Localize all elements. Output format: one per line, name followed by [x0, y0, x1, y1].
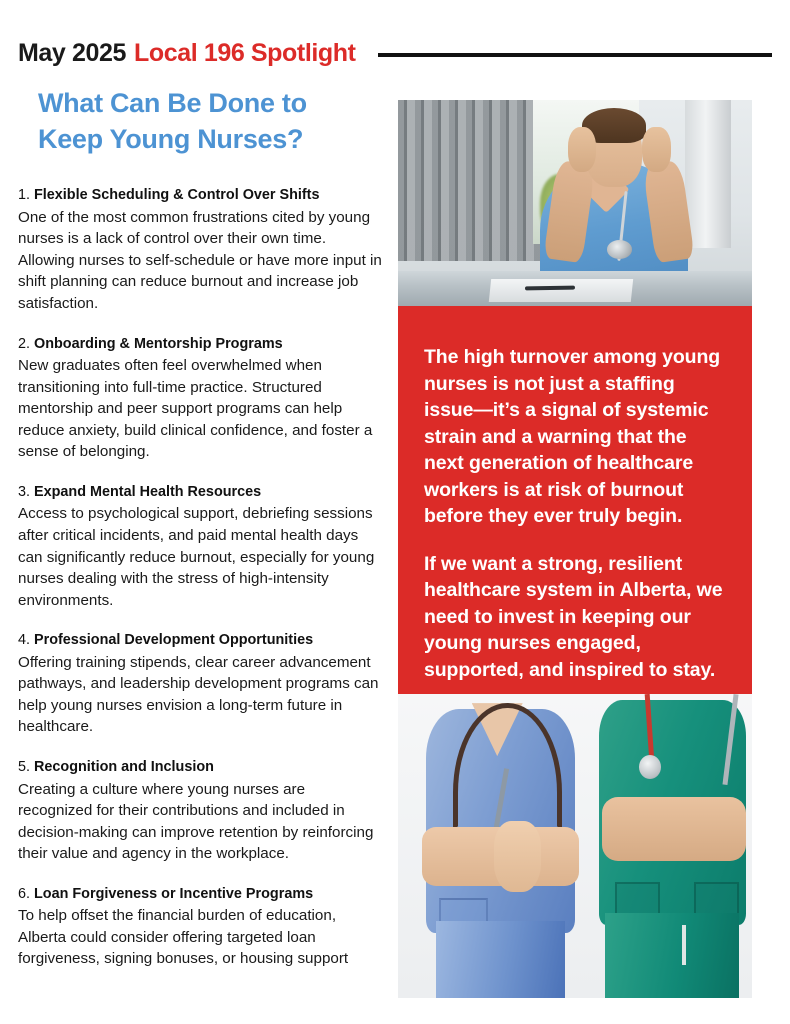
article-section: 6. Loan Forgiveness or Incentive Program…: [18, 884, 382, 970]
pull-quote-paragraph-1: The high turnover among young nurses is …: [424, 344, 726, 530]
section-number: 1.: [18, 187, 30, 203]
section-number: 3.: [18, 484, 30, 500]
article-section: 4. Professional Development Opportunitie…: [18, 630, 382, 738]
article-section: 2. Onboarding & Mentorship Programs New …: [18, 334, 382, 463]
nurse-green-scrubs: [593, 694, 752, 998]
masthead-date: May 2025: [18, 39, 126, 68]
nurse-right-hand: [642, 127, 670, 172]
drawstring: [682, 925, 686, 965]
section-number: 2.: [18, 336, 30, 352]
nurse-blue-pants: [436, 921, 565, 998]
photo-exhausted-nurse: [398, 100, 752, 306]
section-heading: 3. Expand Mental Health Resources: [18, 482, 382, 502]
masthead-title: Local 196 Spotlight: [134, 39, 356, 68]
section-number: 4.: [18, 632, 30, 648]
section-title: Flexible Scheduling & Control Over Shift…: [34, 187, 319, 203]
clipboard: [489, 279, 633, 302]
nurse-green-pants: [605, 913, 739, 998]
nurse-left-hand: [568, 127, 596, 172]
photo-top-scene: [398, 100, 752, 306]
section-body: To help offset the financial burden of e…: [18, 905, 382, 970]
article-column: What Can Be Done to Keep Young Nurses? 1…: [18, 86, 382, 989]
stethoscope-bell-icon: [607, 240, 632, 259]
section-body: New graduates often feel overwhelmed whe…: [18, 355, 382, 463]
section-body: Offering training stipends, clear career…: [18, 652, 382, 738]
section-heading: 2. Onboarding & Mentorship Programs: [18, 334, 382, 354]
section-heading: 1. Flexible Scheduling & Control Over Sh…: [18, 185, 382, 205]
nurse-blue-hand: [494, 821, 542, 892]
pull-quote-paragraph-2: If we want a strong, resilient healthcar…: [424, 551, 726, 684]
section-body: Creating a culture where young nurses ar…: [18, 779, 382, 865]
section-title: Recognition and Inclusion: [34, 759, 214, 775]
newsletter-page: May 2025 Local 196 Spotlight What Can Be…: [0, 0, 790, 1024]
article-section: 3. Expand Mental Health Resources Access…: [18, 482, 382, 611]
section-title: Professional Development Opportunities: [34, 632, 313, 648]
article-section: 5. Recognition and Inclusion Creating a …: [18, 757, 382, 865]
section-heading: 4. Professional Development Opportunitie…: [18, 630, 382, 650]
article-section: 1. Flexible Scheduling & Control Over Sh…: [18, 185, 382, 314]
section-title: Expand Mental Health Resources: [34, 484, 261, 500]
section-number: 6.: [18, 886, 30, 902]
pen: [525, 285, 575, 290]
section-number: 5.: [18, 759, 30, 775]
nurse-green-crossed-arms: [602, 797, 745, 861]
photo-bottom-scene: [398, 694, 752, 998]
page-title: What Can Be Done to Keep Young Nurses?: [38, 86, 382, 157]
nurse-blue-scrubs: [416, 703, 586, 998]
section-heading: 5. Recognition and Inclusion: [18, 757, 382, 777]
pillar: [685, 100, 731, 248]
section-heading: 6. Loan Forgiveness or Incentive Program…: [18, 884, 382, 904]
section-body: One of the most common frustrations cite…: [18, 207, 382, 315]
window-blinds: [398, 100, 540, 261]
pull-quote-box: The high turnover among young nurses is …: [398, 306, 752, 694]
section-body: Access to psychological support, debrief…: [18, 503, 382, 611]
masthead: May 2025 Local 196 Spotlight: [18, 36, 772, 70]
masthead-rule: [378, 53, 772, 57]
section-title: Loan Forgiveness or Incentive Programs: [34, 886, 313, 902]
photo-two-nurses: [398, 694, 752, 998]
section-title: Onboarding & Mentorship Programs: [34, 336, 283, 352]
